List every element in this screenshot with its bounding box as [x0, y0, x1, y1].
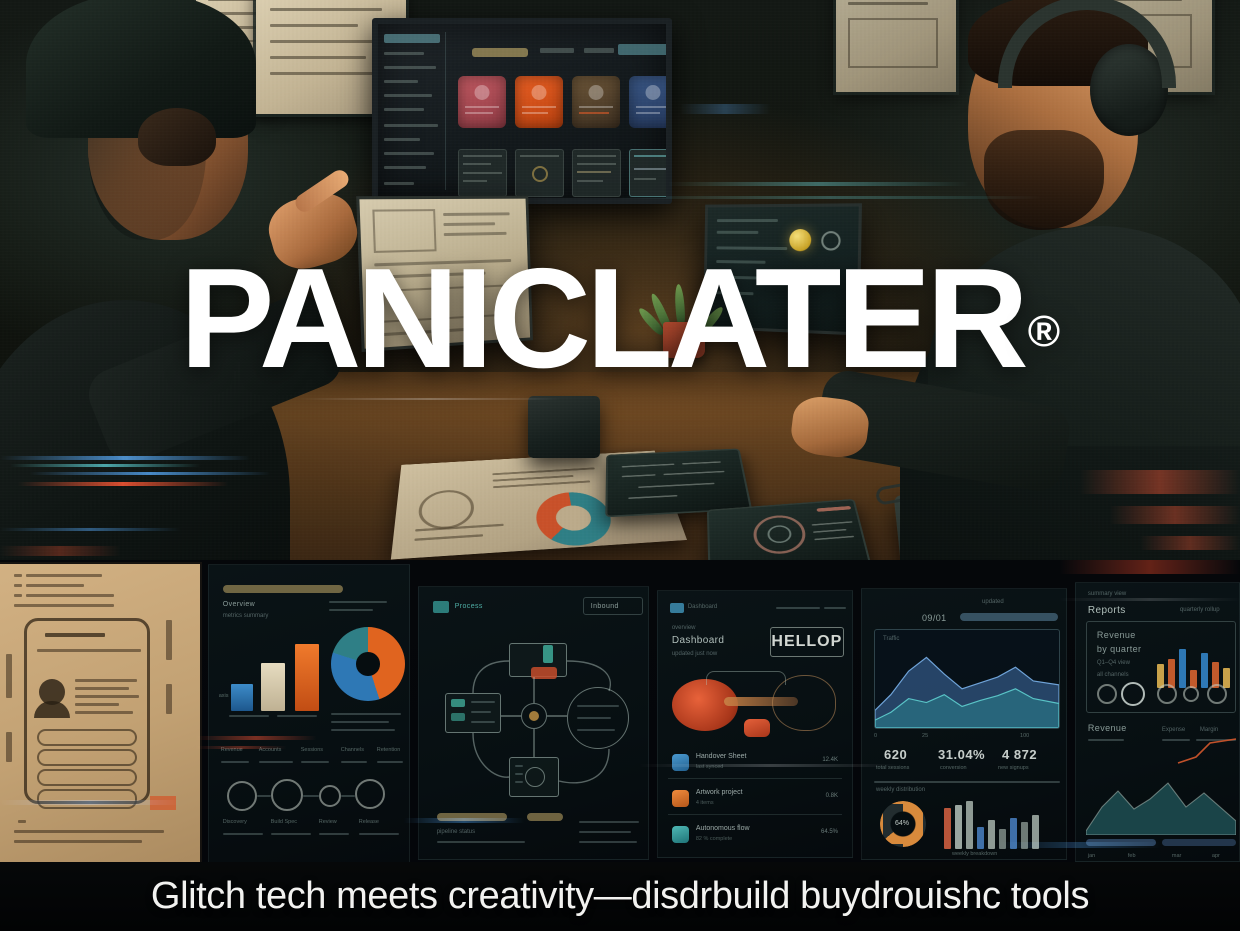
analytics-kpi-2-value: 31.04%: [938, 747, 985, 762]
glitch-block-5: [680, 104, 770, 114]
stats-panel-subtitle: metrics summary: [223, 613, 269, 619]
monitor-tile-4[interactable]: [629, 149, 672, 197]
analytics-legend: Traffic: [883, 636, 899, 642]
monitor-topbar-pill-2: [584, 48, 614, 53]
analytics-kpi-1-value: 620: [884, 747, 907, 762]
stats-kpi-5: Retention: [377, 747, 401, 753]
stats-kpi-2: Accounts: [259, 747, 282, 753]
monitor-footer-accent: [598, 202, 664, 204]
stats-donut-chart: [331, 627, 405, 701]
chain-label-3: Review: [319, 819, 337, 825]
list-item-title: Handover Sheet: [696, 753, 747, 760]
list-item[interactable]: Autonomous flow 82 % complete 64.5%: [668, 819, 842, 851]
analytics-meta: updated: [982, 599, 1004, 605]
monitor-card-d[interactable]: [629, 76, 672, 128]
stats-kpi-3: Sessions: [301, 747, 323, 753]
reports-area-chart: [1086, 773, 1236, 835]
stats-panel-title: Overview: [223, 601, 255, 608]
list-item-value: 0.8K: [826, 793, 838, 799]
tagline-bar: Glitch tech meets creativity—disdrbuild …: [0, 862, 1240, 931]
bar-orange: [295, 644, 319, 711]
wireframe-sketch-panel[interactable]: [0, 564, 200, 864]
monitor-card-row: [458, 76, 672, 128]
stats-search-bar[interactable]: [223, 585, 343, 593]
monitor-sidebar: [384, 32, 446, 190]
flow-active-chip: [543, 645, 553, 663]
list-item[interactable]: Handover Sheet last synced 12.4K: [668, 747, 842, 779]
monitor-search-bar[interactable]: [472, 48, 528, 57]
main-monitor[interactable]: [372, 18, 672, 204]
chain-label-4: Release: [359, 819, 379, 825]
flow-badge-label: Inbound: [591, 603, 619, 610]
wireframe-field-3[interactable]: [37, 769, 137, 786]
reports-trend-line: [1176, 733, 1238, 767]
analytics-kpi-3-label: new signups: [998, 765, 1029, 771]
wireframe-field-1[interactable]: [37, 729, 137, 746]
analytics-area-chart: Traffic: [874, 629, 1060, 729]
hero-card-panel[interactable]: Dashboard overview Dashboard updated jus…: [657, 590, 853, 858]
bar-blue: [231, 684, 253, 711]
list-item-value: 12.4K: [822, 757, 838, 763]
database-icon: [672, 754, 689, 771]
analytics-kpi-2-label: conversion: [940, 765, 967, 771]
reports-subtitle: quarterly rollup: [1180, 607, 1220, 613]
reports-tag-1: jan: [1088, 853, 1095, 859]
flowchart-title: Process: [455, 603, 483, 610]
chain-label-1: Discovery: [223, 819, 247, 825]
hero-badge[interactable]: HELLOP: [770, 627, 844, 657]
reports-tag-2: feb: [1128, 853, 1136, 859]
reports-tag-4: apr: [1212, 853, 1220, 859]
list-item-value: 64.5%: [821, 829, 838, 835]
analytics-gauge-label: 64%: [895, 820, 909, 827]
analytics-panel[interactable]: updated 09/01 Traffic 0 25 100 620 total…: [861, 588, 1067, 860]
chain-label-2: Build Spec: [271, 819, 297, 825]
list-item-title: Autonomous flow: [696, 825, 750, 832]
laptop-right[interactable]: [703, 203, 862, 335]
reports-footer-bar-2: [1162, 839, 1236, 846]
flow-footer-pill: [437, 813, 507, 821]
bar-cream: [261, 663, 285, 711]
reports-panel[interactable]: summary view Reports quarterly rollup Re…: [1075, 582, 1240, 862]
stats-kpi-4: Channels: [341, 747, 364, 753]
list-item[interactable]: Artwork project 4 items 0.8K: [668, 783, 842, 815]
reports-card: Revenue by quarter Q1–Q4 view all channe…: [1086, 621, 1236, 713]
chain-node-1: [227, 781, 257, 811]
plant-pot: [663, 322, 705, 358]
monitor-topbar-pill: [540, 48, 574, 53]
chain-node-4: [355, 779, 385, 809]
reports-title: Reports: [1088, 605, 1126, 616]
flow-logo-chip: [433, 601, 449, 613]
strip-glitch-7: [1060, 560, 1240, 574]
monitor-card-a[interactable]: [458, 76, 506, 128]
monitor-card-c[interactable]: [572, 76, 620, 128]
dashboard-strip: Overview metrics summary axis Revenue Ac…: [0, 560, 1240, 870]
hero-brand-label: Dashboard: [688, 604, 717, 610]
person-left: [0, 0, 390, 600]
list-item-sub: last synced: [696, 764, 724, 770]
folder-icon: [672, 790, 689, 807]
leaf-icon: [672, 826, 689, 843]
reports-footer-bar-1: [1086, 839, 1156, 846]
hero-headline: Dashboard: [672, 635, 725, 646]
analytics-kpi-3-value: 4 872: [1002, 747, 1037, 762]
hero-graphic: [672, 671, 844, 737]
stats-kpi-1: Revenue: [221, 747, 243, 753]
stats-panel[interactable]: Overview metrics summary axis Revenue Ac…: [208, 564, 410, 864]
list-item-sub: 82 % complete: [696, 836, 732, 842]
analytics-badge: 09/01: [922, 613, 947, 623]
monitor-card-b[interactable]: [515, 76, 563, 128]
flowchart-footer: pipeline status: [437, 829, 475, 835]
monitor-tile-1[interactable]: [458, 149, 507, 197]
reports-tag-3: mar: [1172, 853, 1181, 859]
monitor-tile-row: [458, 149, 672, 197]
monitor-tile-2[interactable]: [515, 149, 564, 197]
speaker-box: [528, 396, 600, 458]
list-item-sub: 4 items: [696, 800, 714, 806]
monitor-tile-3[interactable]: [572, 149, 621, 197]
flow-status-chip: [531, 667, 557, 679]
monitor-topbar-action[interactable]: [618, 44, 668, 55]
coin-icon: [789, 229, 811, 251]
chain-node-3: [319, 785, 341, 807]
person-right: [880, 0, 1240, 600]
chain-node-2: [271, 779, 303, 811]
ring-icon: [821, 231, 841, 251]
flowchart-panel[interactable]: Process Inbound: [418, 586, 649, 860]
list-item-title: Artwork project: [696, 789, 743, 796]
stats-bar-chart: [231, 633, 325, 711]
avatar-icon: [39, 679, 65, 705]
paper-donut-chart: [533, 490, 617, 548]
workspace-scene: [0, 0, 1240, 600]
person-left-beanie: [26, 0, 256, 138]
poster-canvas: PANICLATER®: [0, 0, 1240, 931]
person-left-hair: [138, 108, 216, 166]
reports-series-label: Revenue: [1088, 723, 1127, 733]
flow-footer-pill-2: [527, 813, 563, 821]
wireframe-field-2[interactable]: [37, 749, 137, 766]
tagline-text: Glitch tech meets creativity—disdrbuild …: [151, 875, 1089, 918]
analytics-kpi-1-label: total sessions: [876, 765, 909, 771]
wireframe-phone-mock: [24, 618, 150, 804]
reports-bar-chart: [1157, 644, 1231, 688]
analytics-section-label: weekly distribution: [876, 787, 925, 793]
analytics-bar-chart: [944, 797, 1062, 849]
analytics-topbar: [960, 613, 1058, 621]
wireframe-field-4[interactable]: [37, 789, 137, 809]
hero-logo-chip: [670, 603, 684, 613]
